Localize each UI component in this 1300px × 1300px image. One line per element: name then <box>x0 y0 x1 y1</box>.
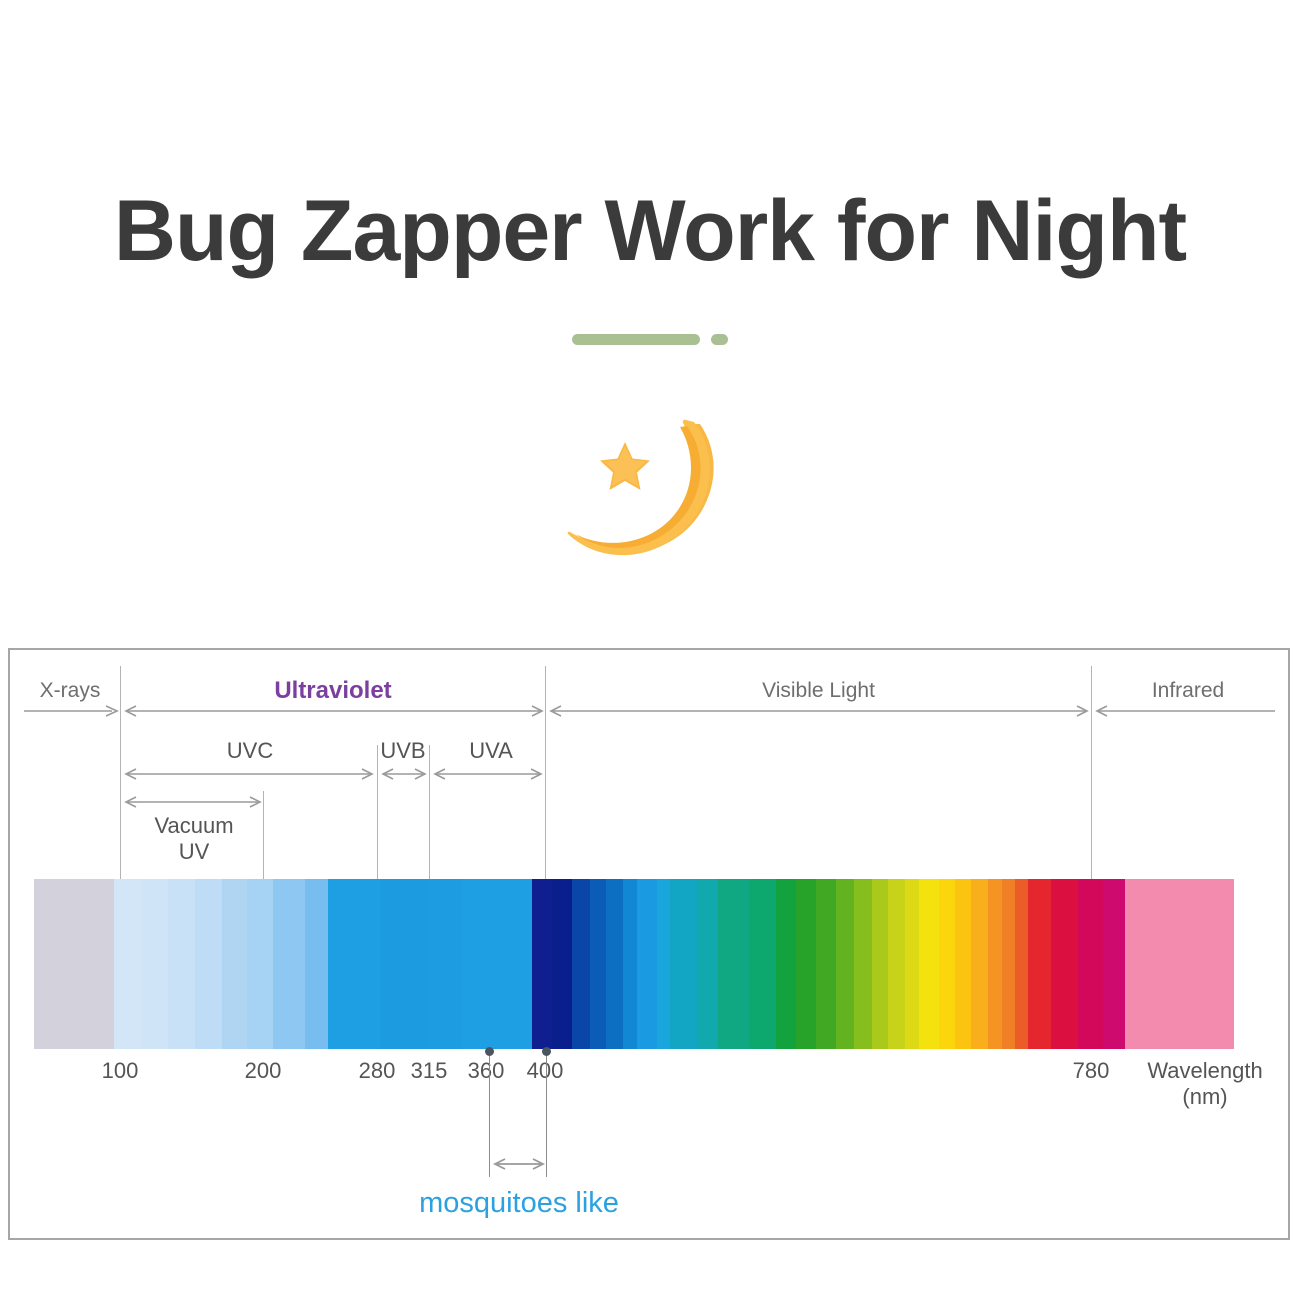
spectrum-band <box>971 879 987 1049</box>
spectrum-band <box>623 879 637 1049</box>
spectrum-band <box>141 879 168 1049</box>
spectrum-band <box>718 879 749 1049</box>
arrow-vacuum-uv <box>124 795 262 809</box>
sublabel-uvb: UVB <box>373 738 433 764</box>
arrow-visible-light <box>549 704 1089 718</box>
spectrum-band <box>606 879 622 1049</box>
tick-label-100: 100 <box>80 1058 160 1084</box>
callout-line-400 <box>546 1051 547 1177</box>
boundary-rule-780nm <box>1091 666 1092 879</box>
spectrum-band <box>590 879 606 1049</box>
callout-line-360 <box>489 1051 490 1177</box>
boundary-rule-315nm <box>429 745 430 879</box>
spectrum-band <box>552 879 572 1049</box>
spectrum-band <box>328 879 380 1049</box>
spectrum-band <box>1125 879 1234 1049</box>
tick-label-780: 780 <box>1051 1058 1131 1084</box>
spectrum-band <box>697 879 719 1049</box>
annotation-mosquitoes-like: mosquitoes like <box>394 1187 644 1220</box>
spectrum-band <box>305 879 328 1049</box>
spectrum-band <box>380 879 427 1049</box>
arrow-uva <box>433 767 543 781</box>
spectrum-band <box>749 879 776 1049</box>
divider-dot <box>711 334 728 345</box>
spectrum-band <box>955 879 971 1049</box>
spectrum-band <box>195 879 222 1049</box>
spectrum-band <box>939 879 955 1049</box>
region-label-visible-light: Visible Light <box>547 679 1090 703</box>
spectrum-band <box>905 879 919 1049</box>
spectrum-band <box>1078 879 1103 1049</box>
tick-label-200: 200 <box>223 1058 303 1084</box>
spectrum-band <box>657 879 670 1049</box>
sublabel-vacuum-uv: Vacuum UV <box>124 813 264 865</box>
arrow-mosquito-range <box>493 1157 545 1171</box>
callout-dot-400 <box>542 1047 551 1056</box>
spectrum-band <box>1028 879 1052 1049</box>
spectrum-band <box>572 879 590 1049</box>
crescent-moon-with-star-icon <box>0 392 1300 587</box>
spectrum-band <box>670 879 697 1049</box>
spectrum-band <box>836 879 854 1049</box>
arrow-ultraviolet <box>124 704 544 718</box>
spectrum-figure: X-rays Ultraviolet Visible Light Infrare… <box>8 648 1290 1240</box>
boundary-rule-400nm <box>545 666 546 879</box>
spectrum-band <box>988 879 1002 1049</box>
spectrum-band <box>637 879 657 1049</box>
spectrum-band <box>222 879 247 1049</box>
axis-label-wavelength: Wavelength (nm) <box>1135 1058 1275 1111</box>
region-label-infrared: Infrared <box>1093 679 1283 703</box>
spectrum-band <box>854 879 872 1049</box>
arrow-infrared <box>1095 704 1275 718</box>
spectrum-band <box>34 879 114 1049</box>
spectrum-band <box>462 879 533 1049</box>
arrow-uvc <box>124 767 374 781</box>
spectrum-band <box>888 879 904 1049</box>
spectrum-band <box>1002 879 1015 1049</box>
sublabel-uva: UVA <box>438 738 544 764</box>
axis-label-line2: (nm) <box>1182 1084 1227 1109</box>
spectrum-band <box>872 879 888 1049</box>
spectrum-band <box>247 879 272 1049</box>
spectrum-band <box>532 879 552 1049</box>
spectrum-band <box>168 879 195 1049</box>
spectrum-band <box>1103 879 1125 1049</box>
spectrum-band <box>796 879 816 1049</box>
spectrum-color-bar <box>34 879 1234 1049</box>
boundary-rule-280nm <box>377 745 378 879</box>
spectrum-band <box>427 879 461 1049</box>
region-label-xrays: X-rays <box>24 679 116 703</box>
sublabel-vacuum-uv-line2: UV <box>179 839 210 864</box>
callout-dot-360 <box>485 1047 494 1056</box>
spectrum-band <box>1051 879 1078 1049</box>
divider-dash <box>572 334 700 345</box>
axis-label-line1: Wavelength <box>1147 1058 1262 1083</box>
tick-label-400: 400 <box>505 1058 585 1084</box>
page-title: Bug Zapper Work for Night <box>0 186 1300 276</box>
title-divider <box>0 332 1300 346</box>
region-label-ultraviolet: Ultraviolet <box>122 677 544 705</box>
spectrum-band <box>919 879 939 1049</box>
arrow-xrays <box>24 704 120 718</box>
sublabel-uvc: UVC <box>124 738 376 764</box>
arrow-uvb <box>381 767 427 781</box>
spectrum-band <box>1015 879 1028 1049</box>
sublabel-vacuum-uv-line1: Vacuum <box>154 813 233 838</box>
boundary-rule-100nm <box>120 666 121 879</box>
spectrum-band <box>114 879 141 1049</box>
spectrum-band <box>816 879 836 1049</box>
spectrum-band <box>273 879 306 1049</box>
spectrum-band <box>776 879 796 1049</box>
